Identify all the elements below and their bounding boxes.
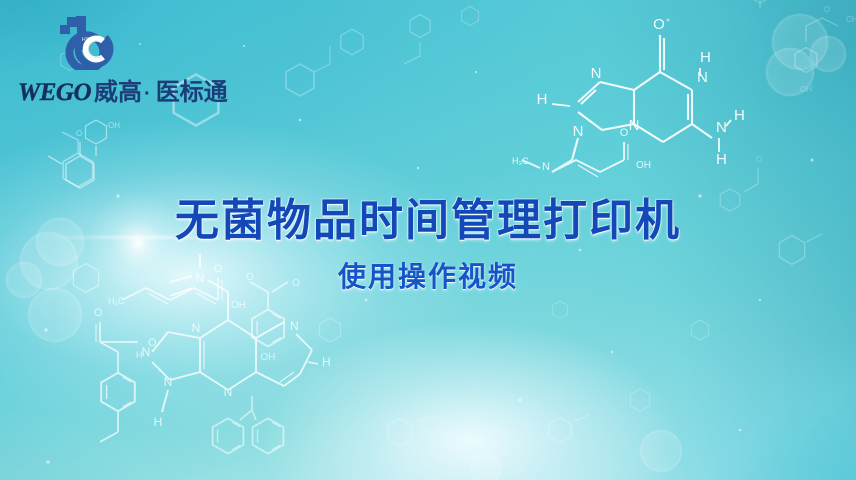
logo-wordmark: WEGO 威高 · 医标通 [18,72,216,107]
bokeh-circle [766,48,814,96]
page-subtitle: 使用操作视频 [0,255,856,295]
page-title: 无菌物品时间管理打印机 [0,196,856,245]
logo-brand-latin: WEGO [18,79,91,107]
logo-product-cn: 医标通 [156,72,228,107]
brand-logo: HSMLS WEGO 威高 · 医标通 [16,14,216,107]
bokeh-circle [28,288,82,342]
bokeh-circle [640,430,682,472]
logo-mark-inner-text: HSMLS [82,37,101,43]
logo-separator: · [144,83,151,106]
logo-brand-cn: 威高 [94,72,142,107]
bokeh-circle [810,36,846,72]
bokeh-circle [470,452,502,480]
logo-mark: HSMLS [60,14,128,70]
title-slide: O N H N N H H N N H [0,0,856,480]
headline-block: 无菌物品时间管理打印机 使用操作视频 [0,196,856,295]
